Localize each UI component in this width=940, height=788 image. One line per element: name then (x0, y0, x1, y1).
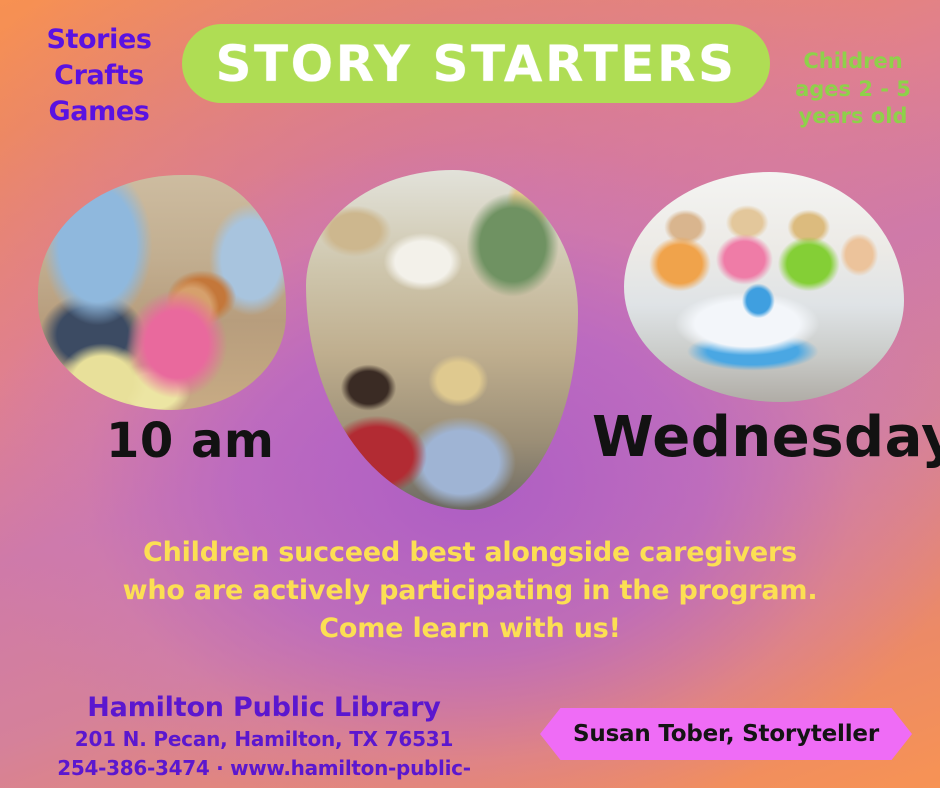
photo-toddler-playing-on-floor (38, 175, 286, 410)
keyword-crafts: Crafts (24, 58, 174, 94)
message-line-2: who are actively participating in the pr… (0, 572, 940, 610)
keyword-stories: Stories (24, 22, 174, 58)
storyteller-ribbon: Susan Tober, Storyteller (540, 708, 912, 760)
library-address: 201 N. Pecan, Hamilton, TX 76531 (14, 725, 514, 754)
message-line-1: Children succeed best alongside caregive… (0, 534, 940, 572)
footer-contact-block: Hamilton Public Library 201 N. Pecan, Ha… (14, 692, 514, 788)
keyword-list: Stories Crafts Games (24, 22, 174, 130)
age-range-note: Children ages 2 - 5 years old (788, 48, 918, 131)
age-note-line-3: years old (788, 103, 918, 131)
story-starters-flyer: Stories Crafts Games STORY STARTERS Chil… (0, 0, 940, 788)
age-note-line-2: ages 2 - 5 (788, 76, 918, 104)
message-line-3: Come learn with us! (0, 610, 940, 648)
storyteller-name: Susan Tober, Storyteller (573, 721, 879, 747)
library-name: Hamilton Public Library (14, 692, 514, 725)
event-day: Wednesdays (592, 405, 940, 470)
photo-storyteller-reading-book (306, 170, 578, 510)
photo-children-drawing-at-table (624, 172, 904, 402)
library-phone-and-website: 254-386-3474 · www.hamilton-public-libra… (14, 754, 514, 788)
page-title: STORY STARTERS (216, 35, 737, 93)
keyword-games: Games (24, 94, 174, 130)
title-banner: STORY STARTERS (182, 24, 770, 103)
event-time: 10 am (106, 413, 274, 469)
age-note-line-1: Children (788, 48, 918, 76)
program-message: Children succeed best alongside caregive… (0, 534, 940, 647)
